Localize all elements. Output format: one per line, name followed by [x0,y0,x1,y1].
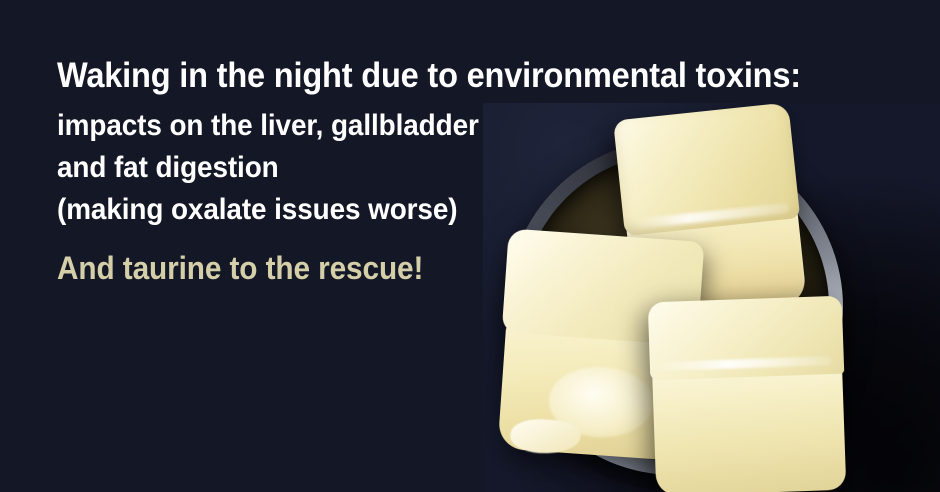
headline-text-block: Waking in the night due to environmental… [57,56,617,288]
highlight-tagline: And taurine to the rescue! [57,248,578,288]
subtitle-line-2: and fat digestion [57,147,578,189]
butter-chunk-front [648,296,849,492]
subtitle-line-3: (making oxalate issues worse) [57,189,578,231]
butter-surface-texture [667,386,832,488]
page-title: Waking in the night due to environmental… [57,56,578,96]
subtitle-line-1: impacts on the liver, gallbladder [57,105,578,147]
article-header-banner: Waking in the night due to environmental… [0,0,940,492]
